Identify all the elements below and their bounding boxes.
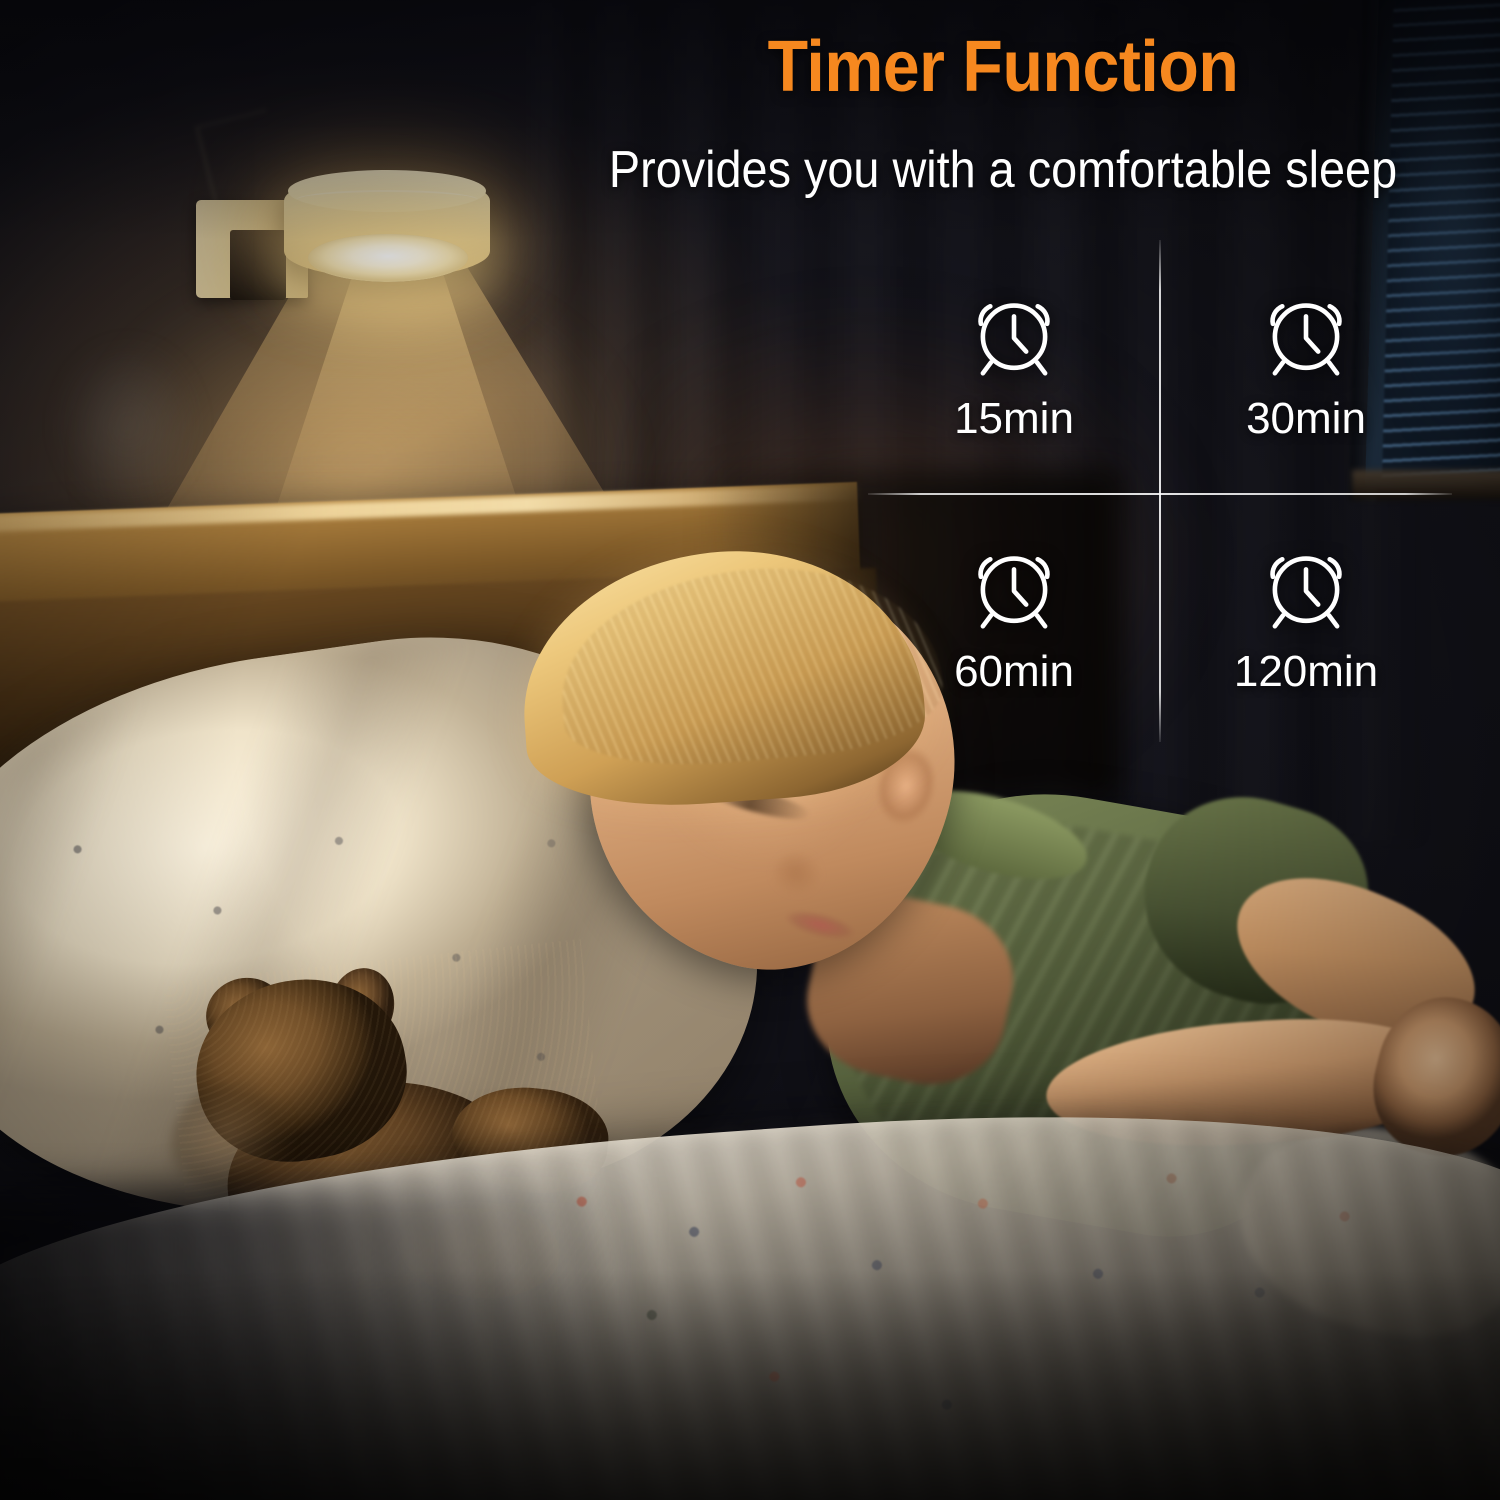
wall-lamp [196,168,506,308]
timer-option-label: 15min [954,394,1074,444]
wall-shadow [48,330,208,520]
timer-option-label: 60min [954,647,1074,697]
lamp-rim-highlight [296,190,478,210]
product-feature-banner: Timer Function Provides you with a comfo… [0,0,1500,1500]
lamp-bracket-notch [230,230,286,300]
timer-option-15min[interactable]: 15min [868,240,1160,493]
alarm-clock-icon [970,288,1058,380]
lamp-diffuser [308,234,468,282]
page-subtitle: Provides you with a comfortable sleep [585,140,1422,200]
timer-option-60min[interactable]: 60min [868,493,1160,746]
timer-option-label: 30min [1246,394,1366,444]
alarm-clock-icon [970,541,1058,633]
timer-option-30min[interactable]: 30min [1160,240,1452,493]
page-title: Timer Function [575,30,1431,106]
alarm-clock-icon [1262,541,1350,633]
duvet-shadow [0,1190,640,1500]
timer-options-grid: 15min 30min [868,240,1452,745]
timer-option-120min[interactable]: 120min [1160,493,1452,746]
alarm-clock-icon [1262,288,1350,380]
duvet-polka-dots [550,1119,1469,1491]
timer-option-label: 120min [1234,647,1378,697]
